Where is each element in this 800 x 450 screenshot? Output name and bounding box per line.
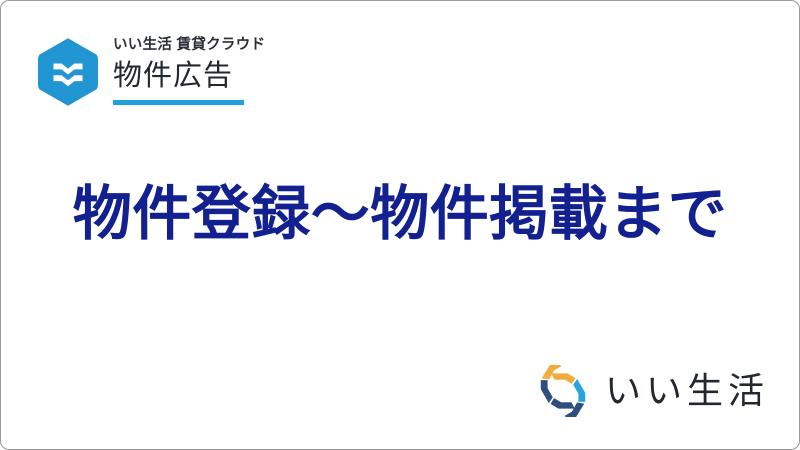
page-title: 物件登録〜物件掲載まで [1,183,799,247]
product-name: 物件広告 [113,62,233,91]
iiseikatsu-pinwheel-ring-mark-icon [537,365,589,417]
corporate-name: いい生活 [605,373,771,409]
iiseikatsu-hexagon-mark-icon [37,37,99,107]
product-lockup: いい生活 賃貸クラウド 物件広告 [37,34,265,107]
slide-canvas: いい生活 賃貸クラウド 物件広告 物件登録〜物件掲載まで [0,0,800,450]
product-text-block: いい生活 賃貸クラウド 物件広告 [113,34,265,105]
product-kicker: いい生活 賃貸クラウド [113,38,265,53]
product-underline-rule [113,100,244,105]
corporate-logo: いい生活 [537,365,771,417]
